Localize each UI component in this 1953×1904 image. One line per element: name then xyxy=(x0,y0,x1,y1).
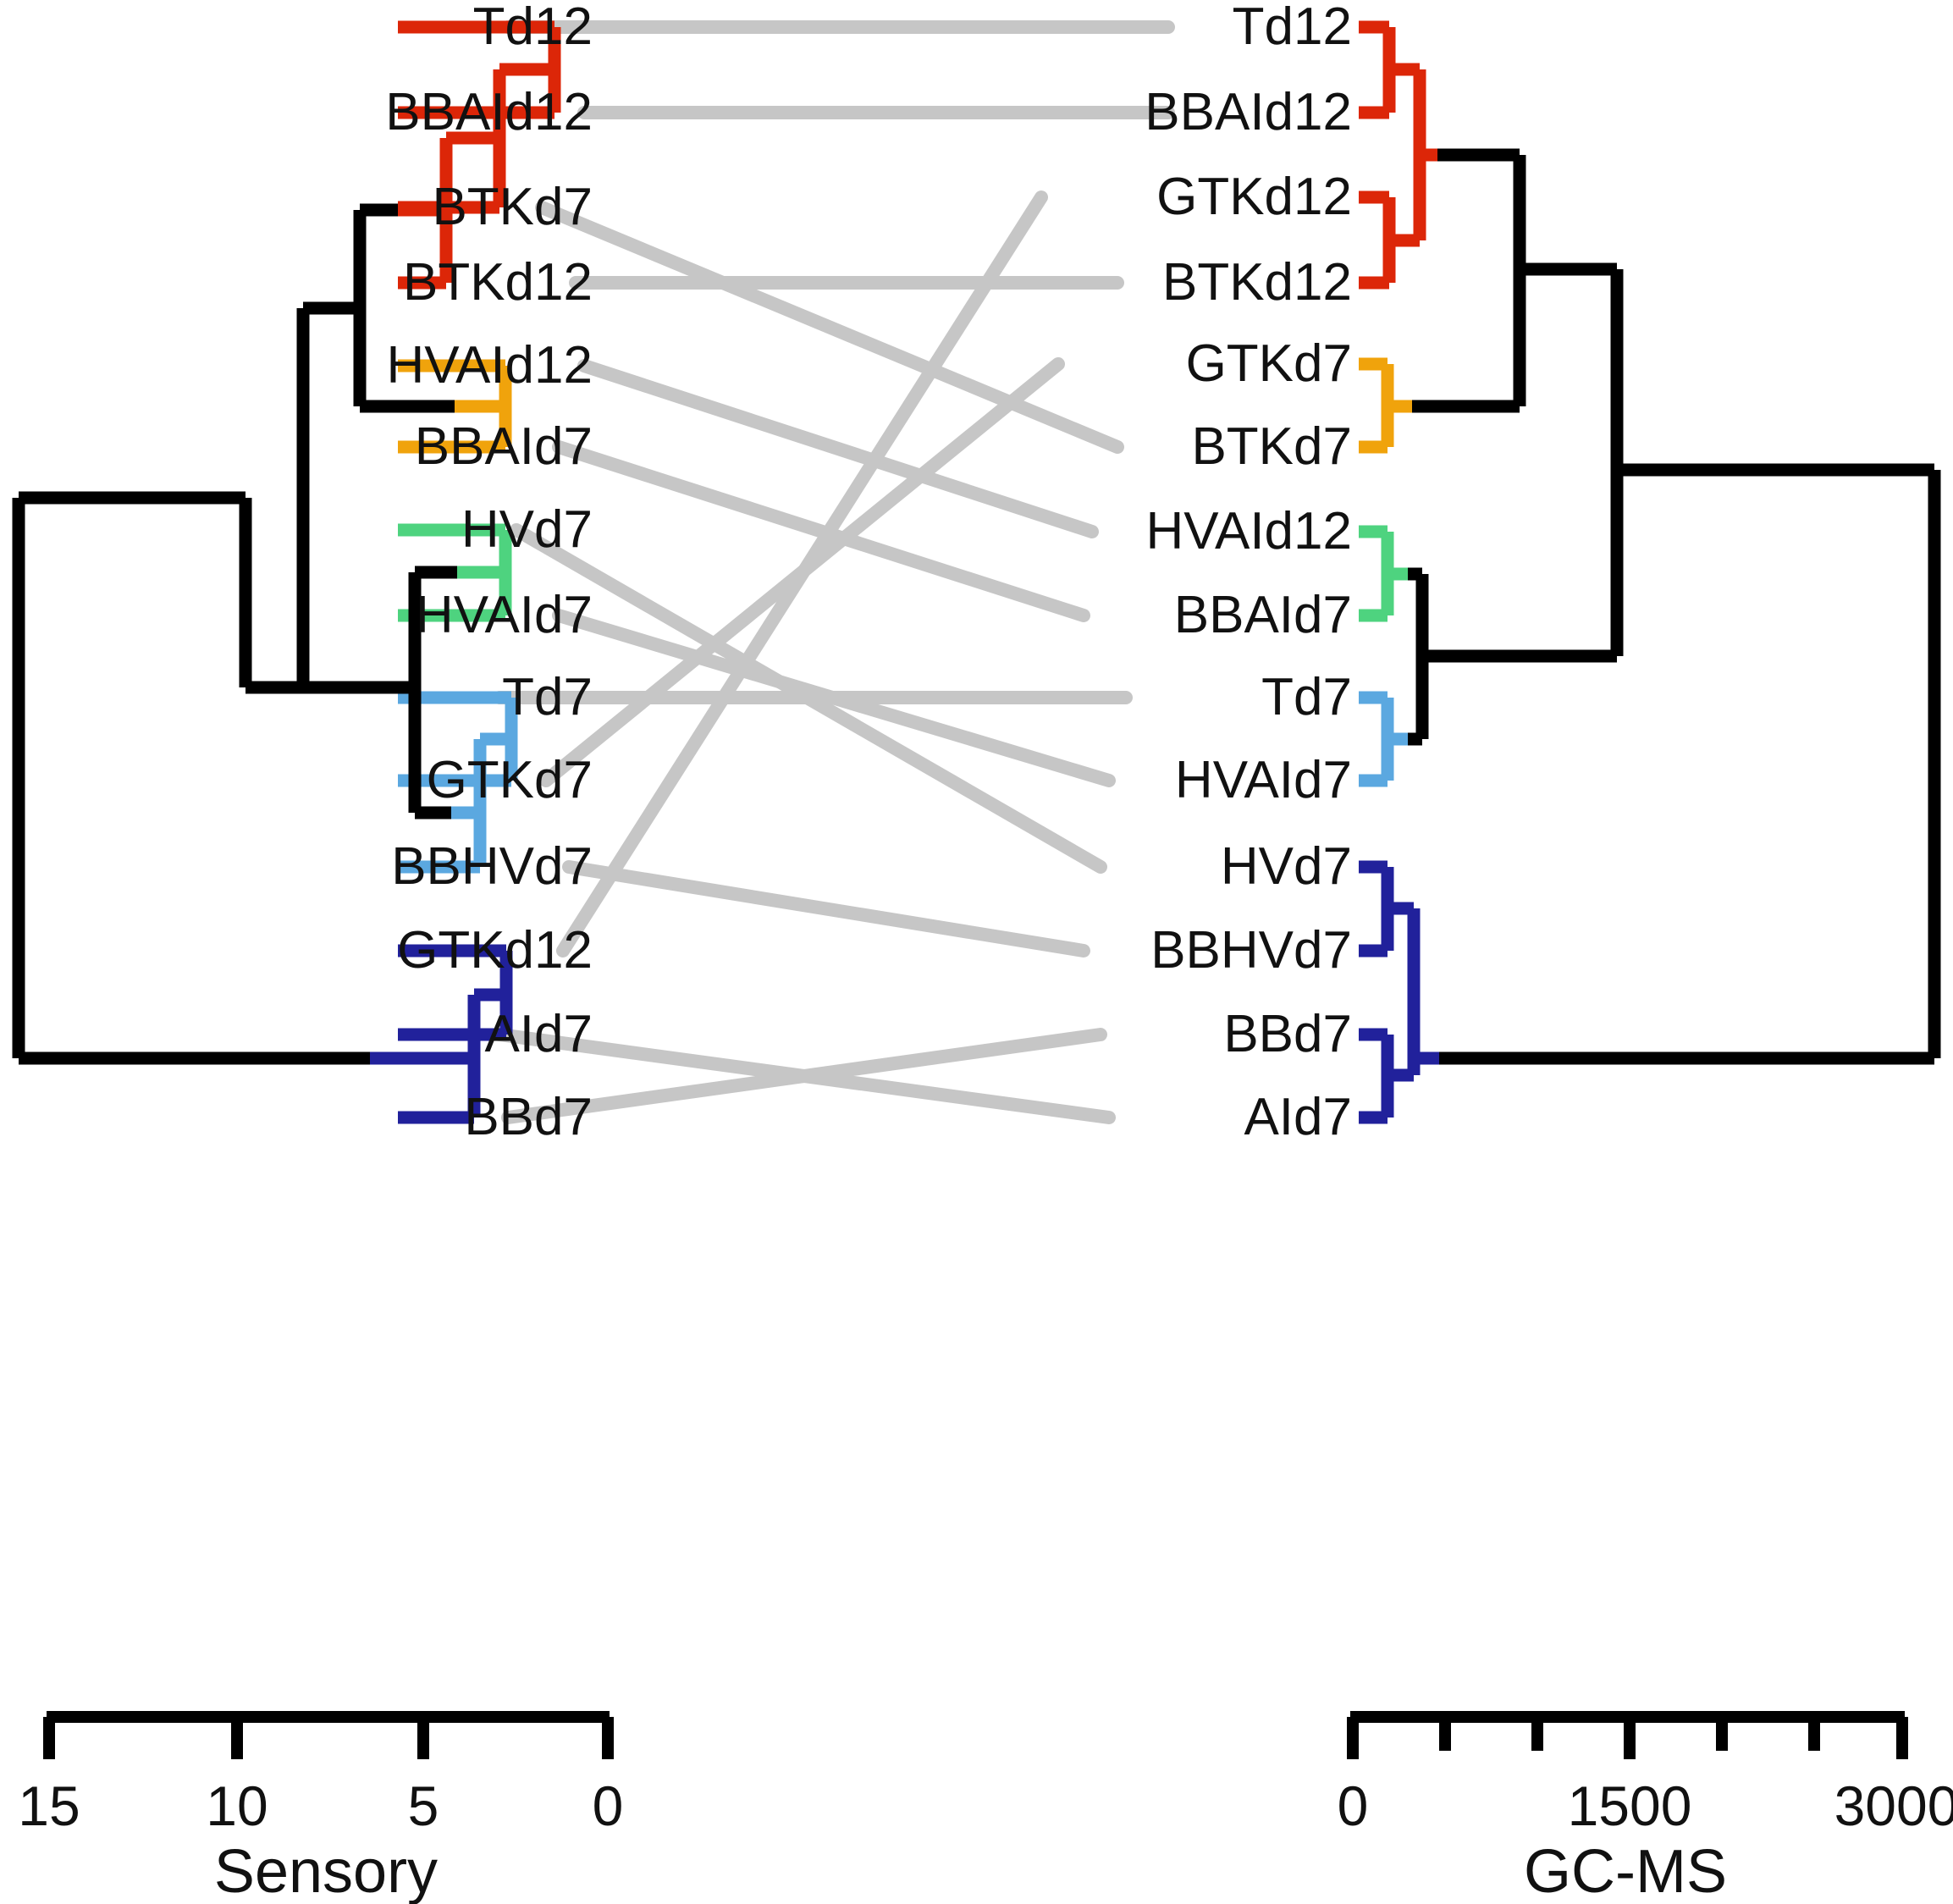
right-cluster-red xyxy=(1359,27,1437,283)
right-leaf-label-2: GTKd12 xyxy=(1156,171,1352,224)
right-leaf-label-11: BBHVd7 xyxy=(1150,924,1352,977)
left-axis-title: Sensory xyxy=(214,1837,438,1904)
left-leaf-label-11: GTKd12 xyxy=(397,924,593,977)
link-lines xyxy=(499,27,1168,1118)
right-leaf-label-12: BBd7 xyxy=(1223,1008,1352,1061)
left-leaf-label-9: GTKd7 xyxy=(427,754,593,807)
tanglegram-figure: Td12 BBAId12 BTKd7 BTKd12 HVAId12 BBAId7… xyxy=(0,0,1953,1904)
left-leaf-label-3: BTKd12 xyxy=(403,257,593,309)
right-axis-gcms xyxy=(1350,1717,1905,1759)
left-axis-tick-label-5: 5 xyxy=(408,1774,439,1838)
right-cluster-green xyxy=(1359,532,1408,615)
right-leaf-label-6: HVAId12 xyxy=(1145,505,1352,558)
right-leaf-label-7: BBAId7 xyxy=(1174,589,1352,642)
right-leaf-label-4: GTKd7 xyxy=(1186,338,1352,390)
right-black-backbone xyxy=(1408,155,1934,1058)
left-cluster-red xyxy=(398,27,554,283)
left-leaf-label-13: BBd7 xyxy=(464,1091,593,1144)
left-leaf-label-8: Td7 xyxy=(502,671,593,724)
left-leaf-label-2: BTKd7 xyxy=(432,181,593,234)
left-axis-tick-label-15: 15 xyxy=(18,1774,80,1838)
right-axis-tick-label-3000: 3000 xyxy=(1834,1774,1953,1838)
right-leaf-label-13: AId7 xyxy=(1244,1091,1352,1144)
link-line-BBAId7 xyxy=(559,447,1084,615)
right-leaf-label-9: HVAId7 xyxy=(1175,754,1352,807)
left-leaf-label-10: BBHVd7 xyxy=(391,841,593,893)
left-leaf-label-5: BBAId7 xyxy=(415,421,593,473)
link-line-BBHVd7 xyxy=(569,867,1084,951)
left-leaf-label-7: HVAId7 xyxy=(416,589,593,642)
left-leaf-label-1: BBAId12 xyxy=(385,86,593,139)
right-leaf-label-3: BTKd12 xyxy=(1162,257,1352,309)
right-axis-tick-label-1500: 1500 xyxy=(1568,1774,1692,1838)
right-leaf-label-0: Td12 xyxy=(1233,1,1352,53)
left-axis-tick-label-0: 0 xyxy=(593,1774,624,1838)
left-leaf-label-6: HVd7 xyxy=(461,504,593,556)
link-line-BTKd7 xyxy=(542,207,1117,447)
left-axis-tick-label-10: 10 xyxy=(206,1774,268,1838)
right-axis-title: GC-MS xyxy=(1524,1837,1727,1904)
right-leaf-label-1: BBAId12 xyxy=(1145,86,1352,139)
right-cluster-orange xyxy=(1359,364,1412,447)
left-leaf-label-4: HVAId12 xyxy=(386,339,593,392)
right-cluster-navy xyxy=(1359,867,1439,1118)
right-leaf-label-10: HVd7 xyxy=(1221,841,1352,893)
tanglegram-canvas xyxy=(0,0,1953,1904)
left-axis-sensory xyxy=(47,1717,610,1759)
right-axis-tick-label-0: 0 xyxy=(1338,1774,1369,1838)
left-leaf-label-0: Td12 xyxy=(473,1,593,53)
right-cluster-lightblue xyxy=(1359,698,1408,781)
right-leaf-label-8: Td7 xyxy=(1261,671,1352,724)
right-leaf-label-5: BTKd7 xyxy=(1191,421,1352,473)
right-dendrogram-gcms xyxy=(1359,27,1934,1118)
left-leaf-label-12: AId7 xyxy=(484,1008,593,1061)
